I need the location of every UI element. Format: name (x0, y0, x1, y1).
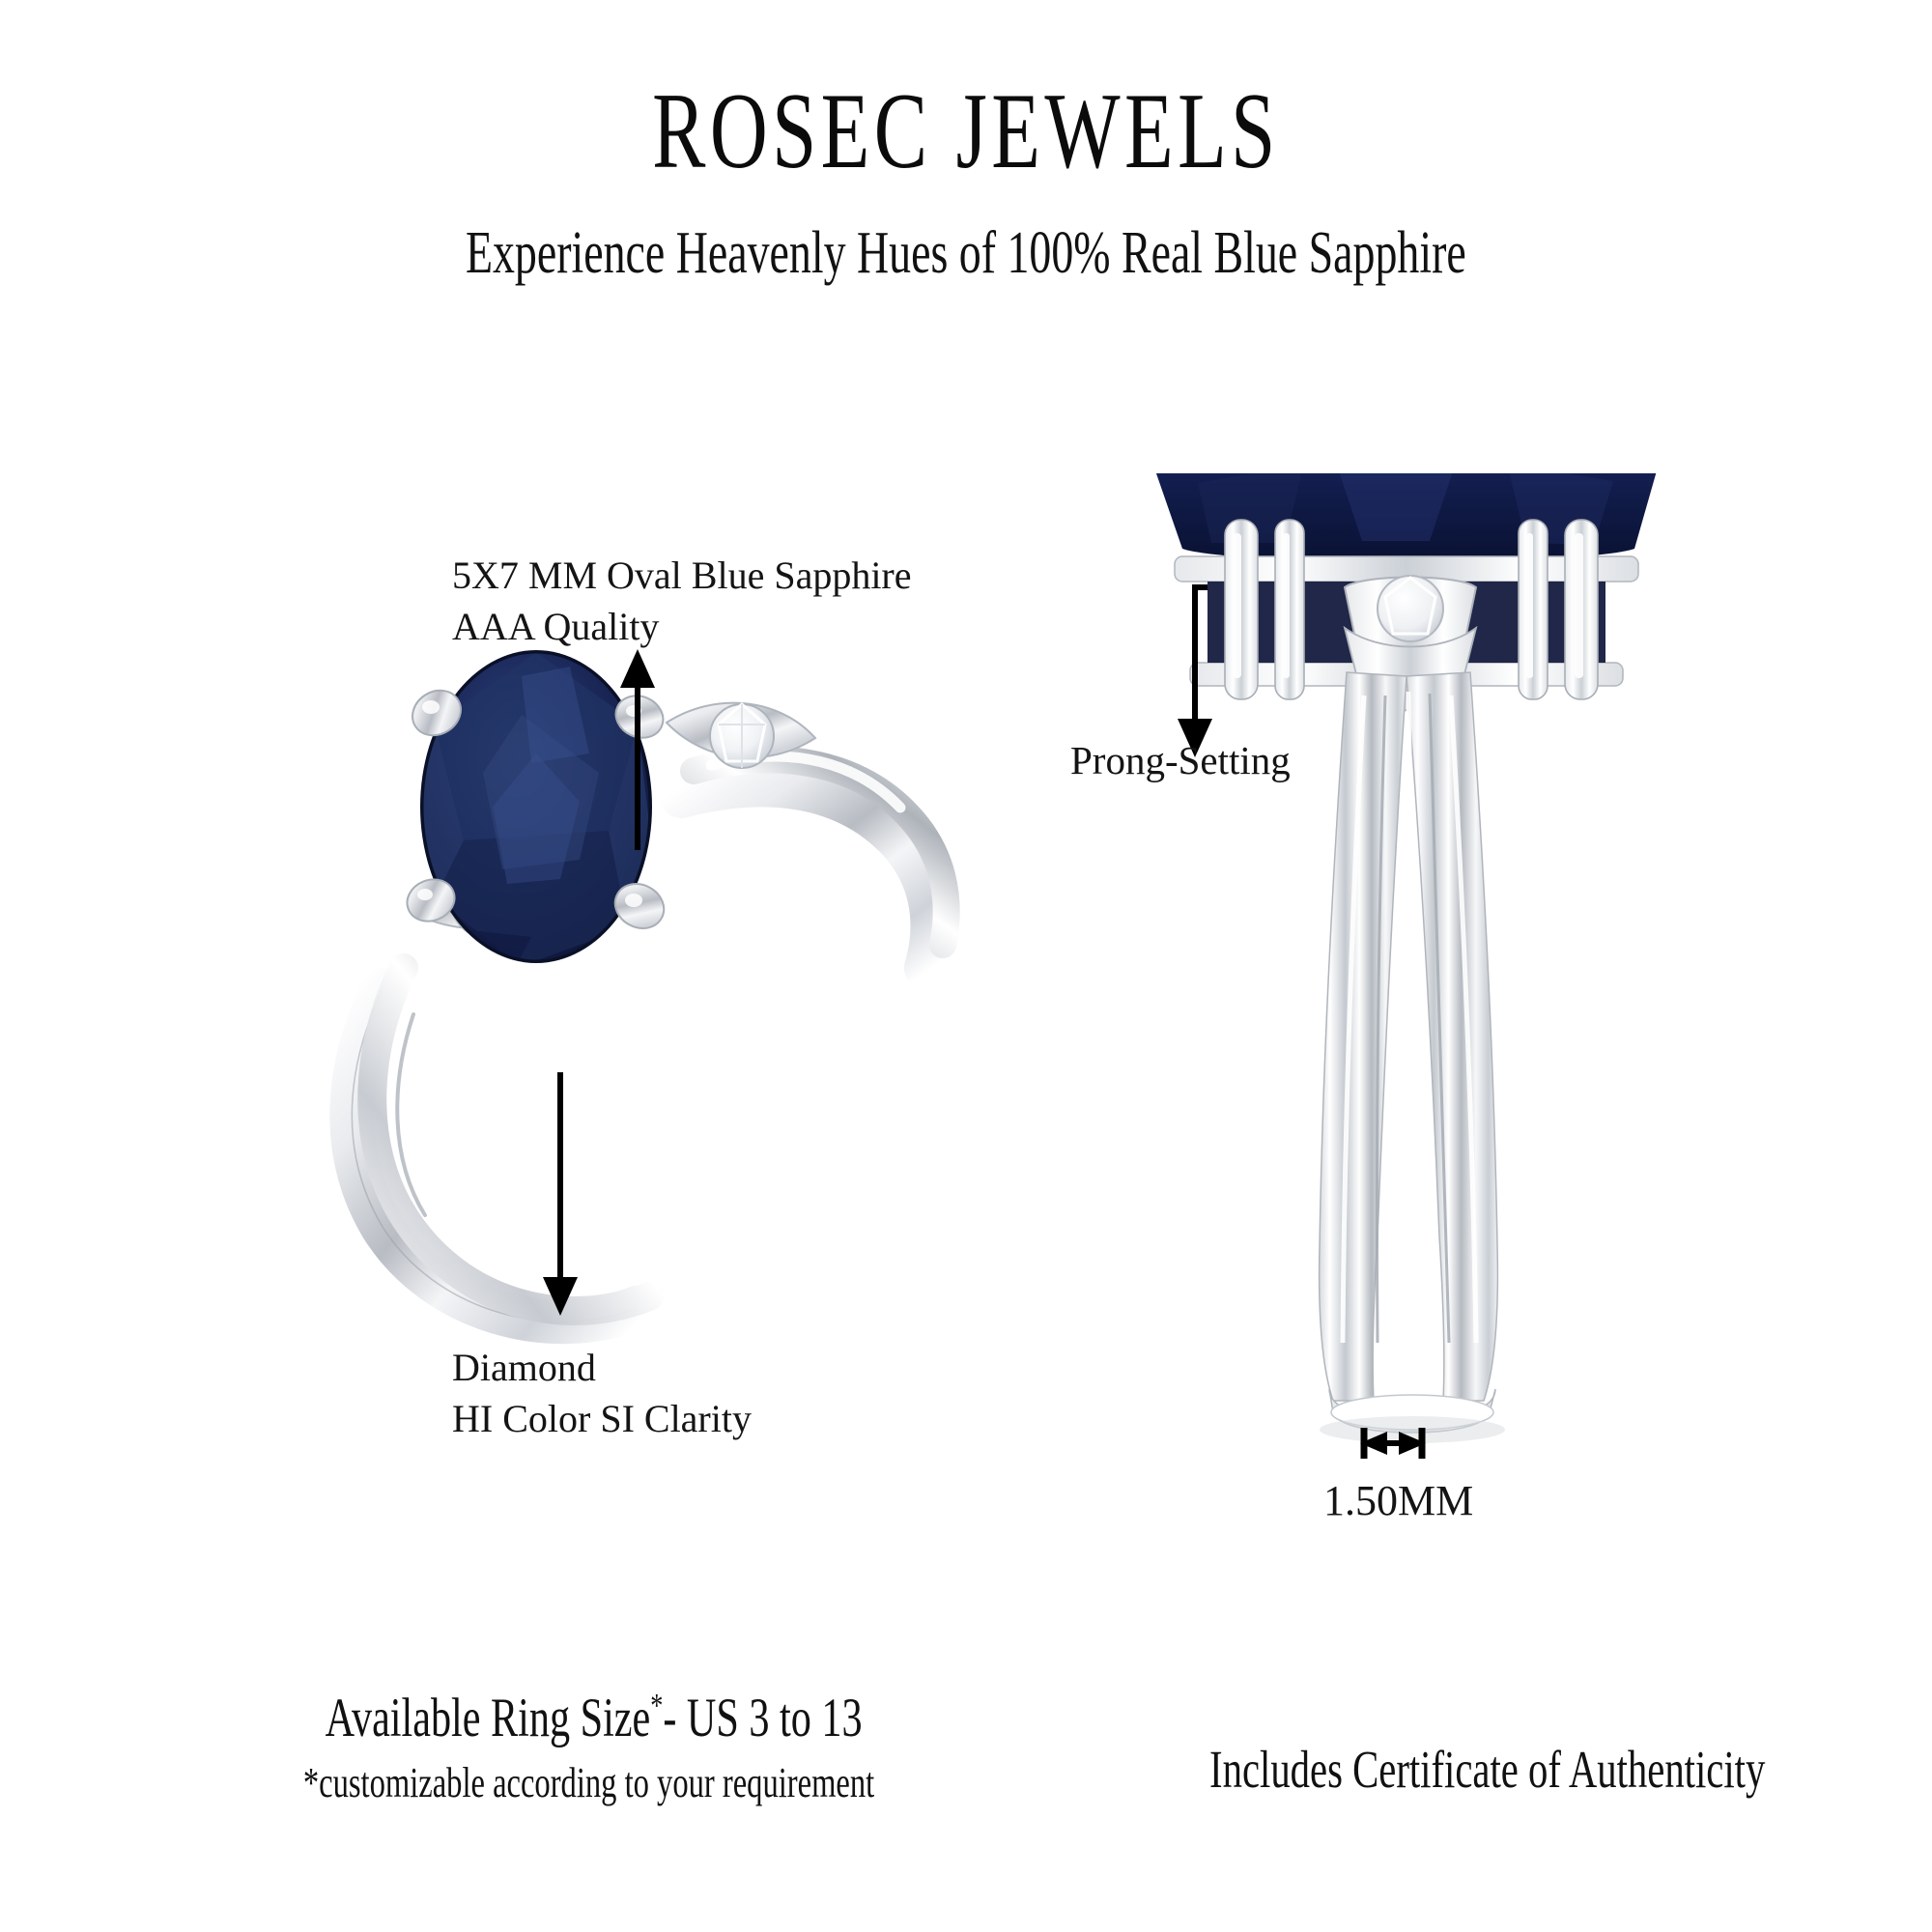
ring-size-footer-text: Available Ring Size*- US 3 to 13 (326, 1686, 863, 1749)
brand-subtitle: Experience Heavenly Hues of 100% Real Bl… (0, 220, 1932, 286)
certificate-footer: Includes Certificate of Authenticity (1082, 1739, 1893, 1800)
ring-size-suffix: - US 3 to 13 (664, 1688, 863, 1748)
diamond-callout-label: Diamond HI Color SI Clarity (452, 1343, 752, 1445)
ring-side-view-image (1140, 473, 1681, 1478)
ring-size-prefix: Available Ring Size (326, 1688, 651, 1748)
gemstone-callout-label: 5X7 MM Oval Blue Sapphire AAA Quality (452, 551, 912, 653)
brand-title-text: ROSEC JEWELS (652, 75, 1280, 189)
ring-size-asterisk: * (651, 1687, 664, 1724)
prong-callout-label: Prong-Setting (1070, 734, 1291, 786)
ring-front-view-image (290, 609, 1024, 1372)
customizable-note: *customizable according to your requirem… (135, 1758, 1043, 1807)
band-width-label: 1.50MM (1323, 1473, 1473, 1529)
certificate-footer-text: Includes Certificate of Authenticity (1209, 1739, 1765, 1800)
infographic-canvas: ROSEC JEWELS Experience Heavenly Hues of… (0, 0, 1932, 1932)
brand-title: ROSEC JEWELS (0, 75, 1932, 189)
accent-diamond-upper (710, 704, 774, 768)
ring-size-footer: Available Ring Size*- US 3 to 13 (188, 1686, 1000, 1749)
customizable-note-text: *customizable according to your requirem… (303, 1758, 874, 1807)
brand-subtitle-text: Experience Heavenly Hues of 100% Real Bl… (466, 220, 1466, 286)
